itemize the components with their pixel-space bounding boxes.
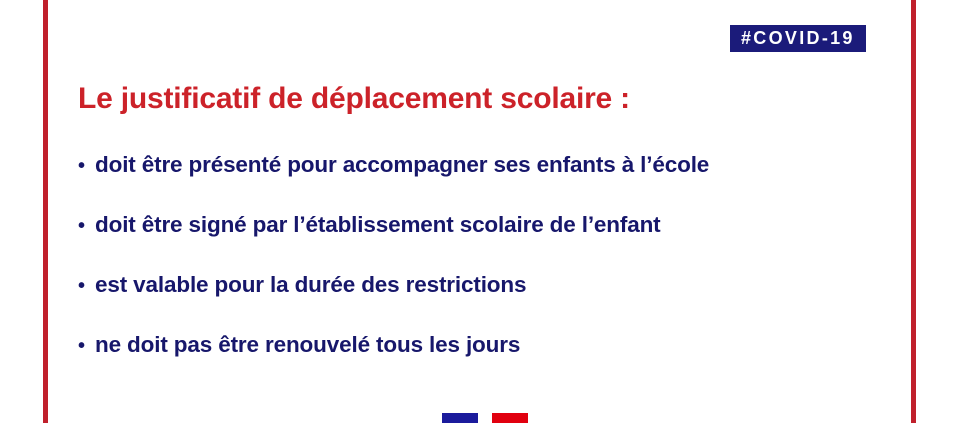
covid-19-hashtag-badge: #COVID-19 — [730, 25, 866, 52]
bullet-dot-icon: • — [78, 276, 95, 296]
list-item-label: doit être signé par l’établissement scol… — [95, 212, 661, 238]
bullet-list: • doit être présenté pour accompagner se… — [78, 152, 908, 392]
list-item-label: ne doit pas être renouvelé tous les jour… — [95, 332, 520, 358]
list-item: • doit être signé par l’établissement sc… — [78, 212, 908, 272]
tricolor-bar-blue — [442, 413, 478, 423]
list-item: • est valable pour la durée des restrict… — [78, 272, 908, 332]
tricolor-bar-red — [492, 413, 528, 423]
frame-rule-left — [43, 0, 48, 423]
covid-information-poster: #COVID-19 Le justificatif de déplacement… — [0, 0, 960, 423]
bullet-dot-icon: • — [78, 156, 95, 176]
bullet-dot-icon: • — [78, 336, 95, 356]
list-item: • ne doit pas être renouvelé tous les jo… — [78, 332, 908, 392]
french-tricolor-logo-icon — [442, 413, 528, 423]
page-title: Le justificatif de déplacement scolaire … — [78, 82, 630, 116]
bullet-dot-icon: • — [78, 216, 95, 236]
list-item-label: doit être présenté pour accompagner ses … — [95, 152, 709, 178]
list-item-label: est valable pour la durée des restrictio… — [95, 272, 526, 298]
list-item: • doit être présenté pour accompagner se… — [78, 152, 908, 212]
frame-rule-right — [911, 0, 916, 423]
